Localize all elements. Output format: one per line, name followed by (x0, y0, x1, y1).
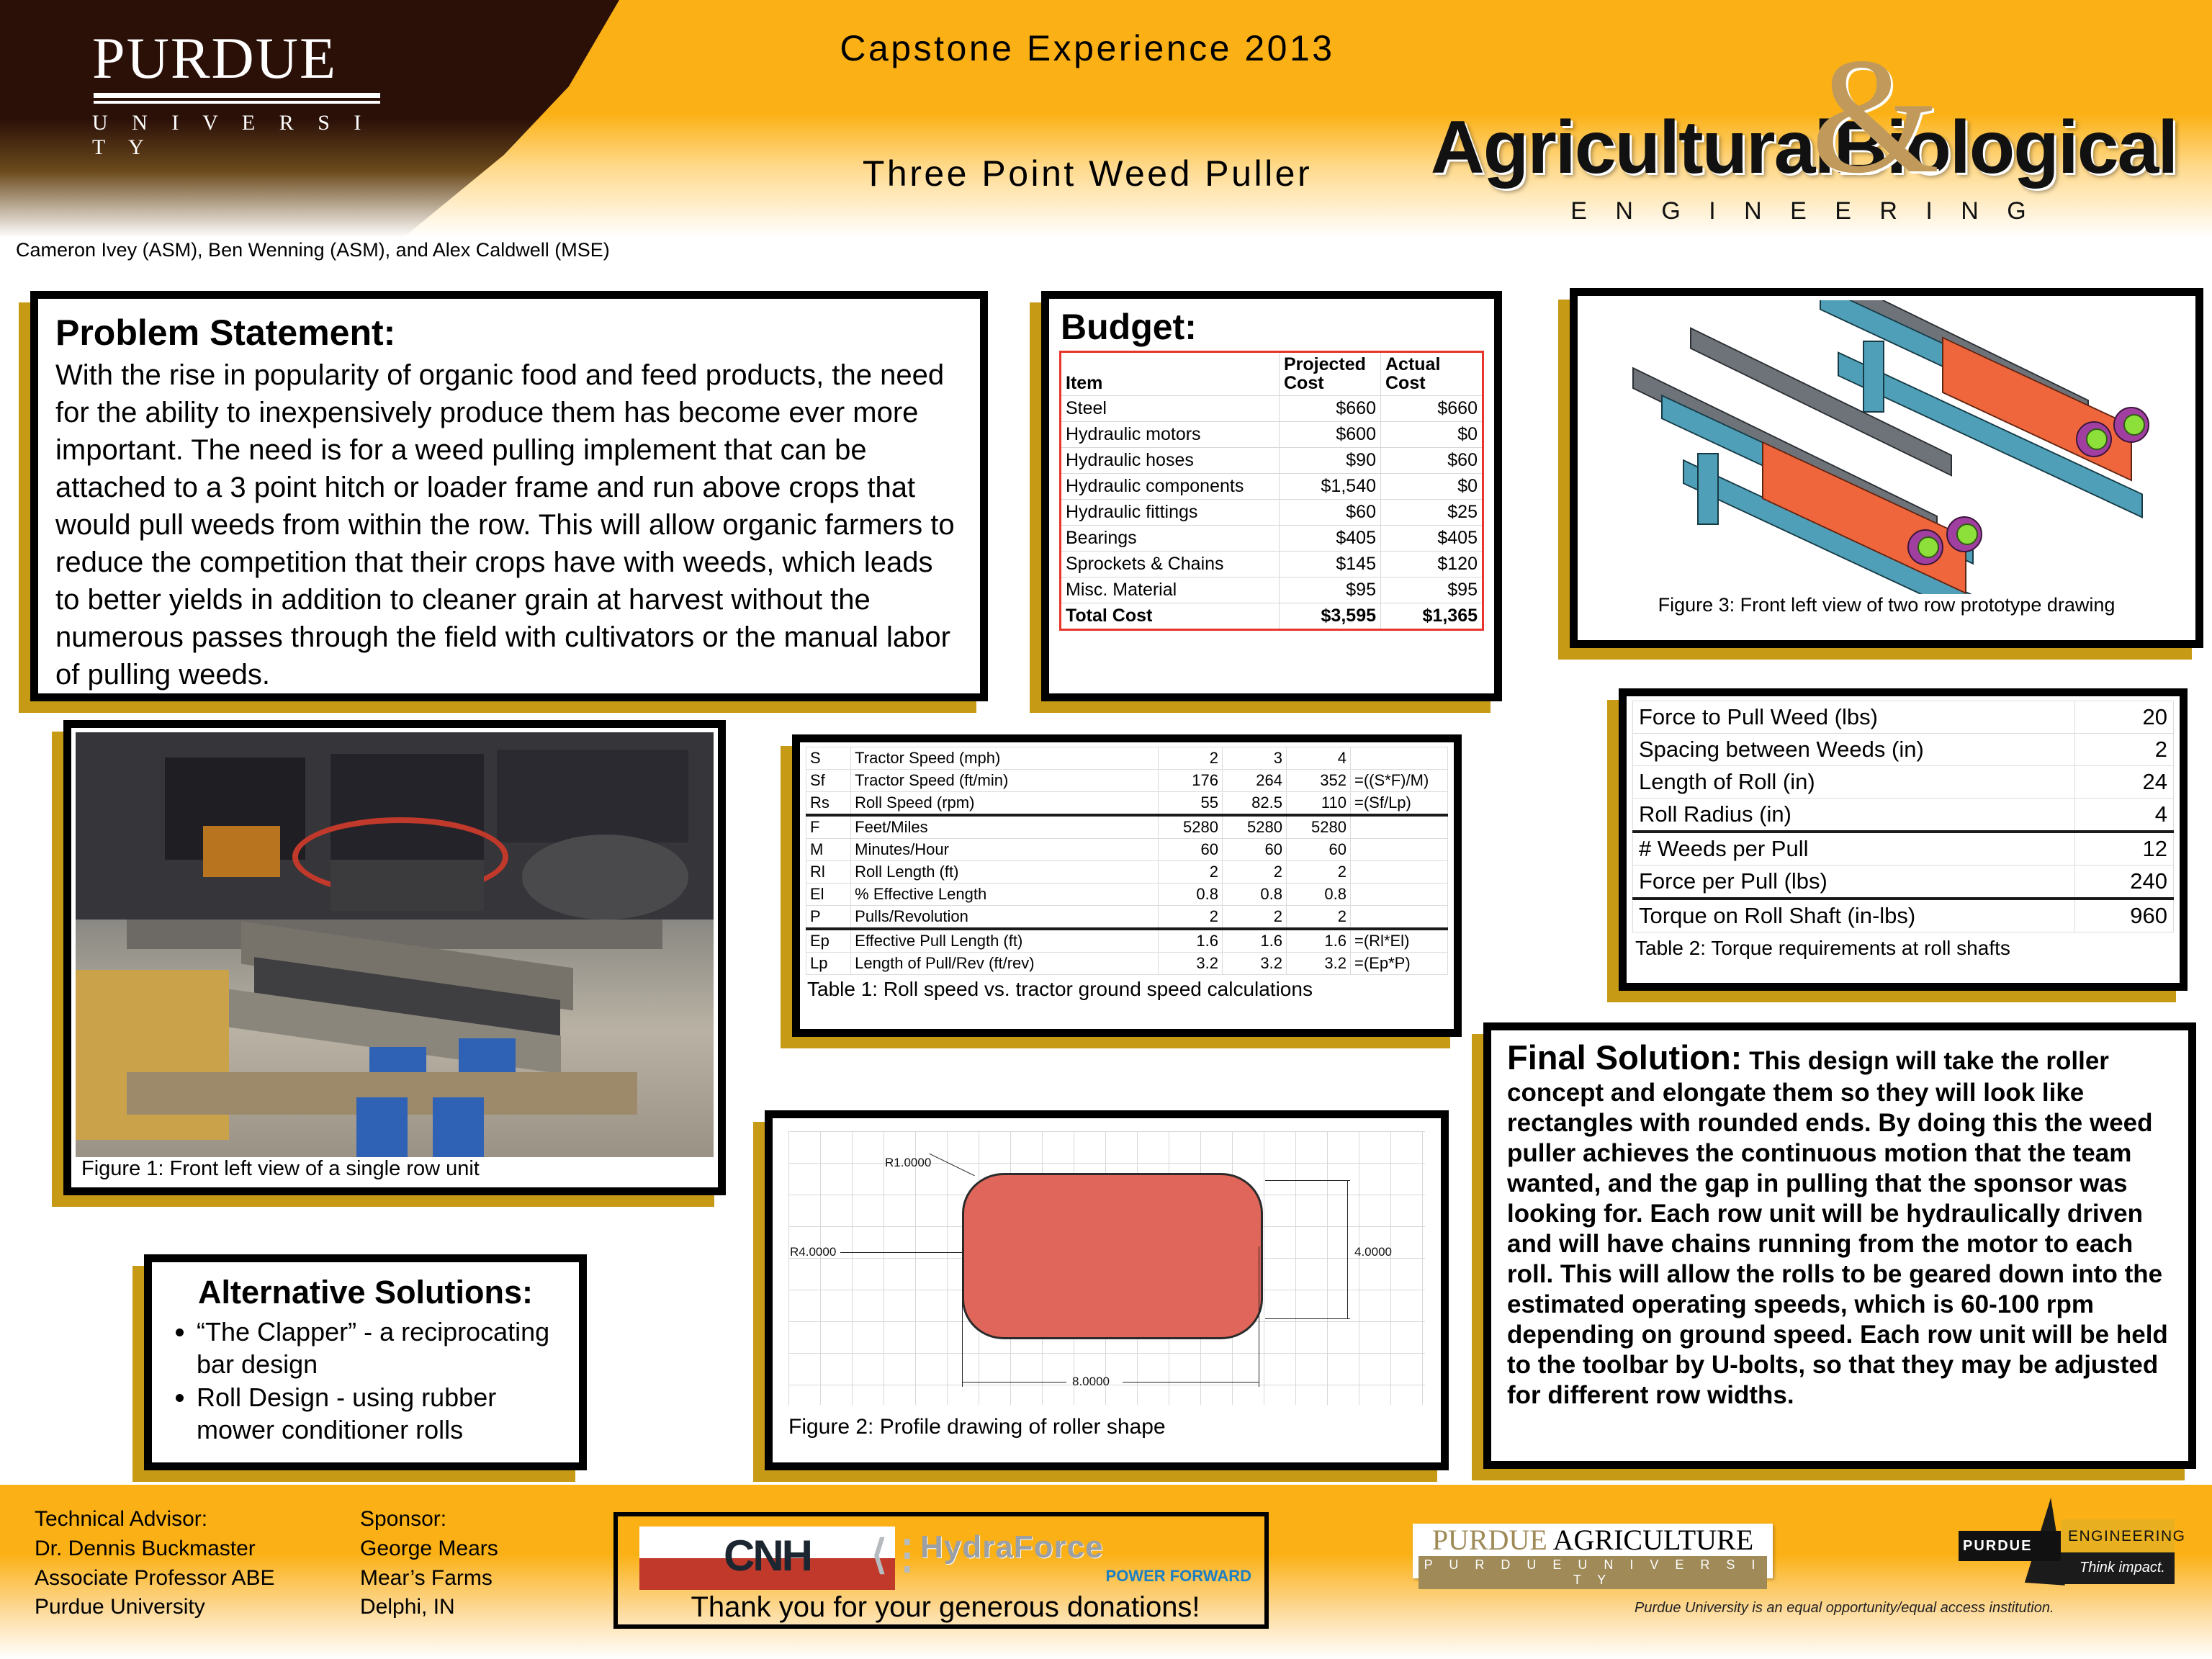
advisor-name: Dr. Dennis Buckmaster (35, 1534, 275, 1564)
sponsor-location: Delphi, IN (360, 1593, 498, 1622)
dim-corner-radius-label: R1.0000 (885, 1156, 931, 1170)
t2-value: 12 (2075, 832, 2174, 866)
sponsor-name: George Mears (360, 1534, 498, 1564)
t1-formula (1351, 884, 1448, 906)
final-solution-body: Final Solution: This design will take th… (1507, 1038, 2172, 1411)
t1-value-2: 60 (1223, 839, 1287, 861)
t1-formula (1351, 815, 1448, 839)
table-row: Hydraulic motors$600$0 (1061, 421, 1483, 447)
dim-width-label: 8.0000 (1072, 1375, 1110, 1389)
t1-symbol: S (806, 747, 851, 770)
table-row: LpLength of Pull/Rev (ft/rev)3.23.23.2=(… (806, 953, 1448, 975)
hydraforce-mark-icon: ⟨⋮ (871, 1531, 927, 1578)
t1-value-3: 0.8 (1287, 884, 1351, 906)
table2-caption: Table 2: Torque requirements at roll sha… (1632, 932, 2174, 960)
table-row: RsRoll Speed (rpm)5582.5110=(Sf/Lp) (806, 792, 1448, 816)
t1-formula: =((S*F)/M) (1351, 770, 1448, 792)
t1-formula (1351, 839, 1448, 861)
t2-value: 960 (2075, 899, 2174, 932)
t1-formula: =(Sf/Lp) (1351, 792, 1448, 816)
budget-item: Hydraulic motors (1061, 421, 1280, 447)
budget-projected: $90 (1280, 447, 1381, 473)
t1-description: Roll Length (ft) (851, 861, 1159, 884)
purdue-university-subtext: U N I V E R S I T Y (92, 111, 395, 160)
table-row: Bearings$405$405 (1061, 525, 1483, 551)
budget-col-projected-line1: Projected (1284, 355, 1376, 374)
logo-rule-thin (94, 101, 380, 104)
t1-symbol: M (806, 839, 851, 861)
problem-statement-panel: Problem Statement: With the rise in popu… (30, 291, 988, 701)
t1-formula: =(Ep*P) (1351, 953, 1448, 975)
hydraforce-wordmark: HydraForce (920, 1529, 1251, 1565)
budget-col-actual-line1: Actual (1385, 355, 1478, 374)
t1-value-2: 3 (1223, 747, 1287, 770)
list-item: “The Clapper” - a reciprocating bar desi… (197, 1316, 566, 1381)
t1-description: Effective Pull Length (ft) (851, 929, 1159, 953)
purdue-engineering-logo: PURDUE ENGINEERING Think impact. (1959, 1506, 2175, 1586)
t1-formula: =(Rl*El) (1351, 929, 1448, 953)
purdue-agriculture-wordmark: PURDUE AGRICULTURE (1413, 1524, 1773, 1555)
t1-formula (1351, 861, 1448, 884)
t1-description: Tractor Speed (ft/min) (851, 770, 1159, 792)
poster-header: PURDUE U N I V E R S I T Y Capstone Expe… (0, 0, 2212, 238)
advisor-rank: Associate Professor ABE (35, 1564, 275, 1593)
budget-heading: Budget: (1061, 306, 1484, 348)
t1-description: Tractor Speed (mph) (851, 747, 1159, 770)
figure2-caption: Figure 2: Profile drawing of roller shap… (778, 1411, 1435, 1439)
advisor-institution: Purdue University (35, 1593, 275, 1622)
budget-item: Misc. Material (1061, 577, 1280, 603)
budget-total-projected: $3,595 (1280, 603, 1381, 629)
t1-value-1: 55 (1159, 792, 1223, 816)
budget-panel: Budget: Item Projected Cost Actual Cost … (1041, 291, 1502, 701)
t1-symbol: Rl (806, 861, 851, 884)
t1-symbol: P (806, 906, 851, 930)
ampersand-glyph: & (1811, 33, 1940, 199)
t1-description: Length of Pull/Rev (ft/rev) (851, 953, 1159, 975)
t1-value-1: 3.2 (1159, 953, 1223, 975)
budget-actual: $660 (1381, 395, 1483, 421)
t1-symbol: F (806, 815, 851, 839)
table-row: STractor Speed (mph)234 (806, 747, 1448, 770)
table-row: Spacing between Weeds (in)2 (1633, 734, 2174, 766)
t2-value: 2 (2075, 734, 2174, 766)
t1-value-3: 110 (1287, 792, 1351, 816)
t1-value-1: 176 (1159, 770, 1223, 792)
table-row: Length of Roll (in)24 (1633, 766, 2174, 799)
budget-projected: $1,540 (1280, 473, 1381, 499)
budget-col-actual-line2: Cost (1385, 374, 1478, 392)
budget-col-projected: Projected Cost (1280, 352, 1381, 396)
table-row: # Weeds per Pull12 (1633, 832, 2174, 866)
budget-col-projected-line2: Cost (1284, 374, 1376, 392)
t1-description: Roll Speed (rpm) (851, 792, 1159, 816)
t1-description: Feet/Miles (851, 815, 1159, 839)
budget-item: Hydraulic hoses (1061, 447, 1280, 473)
abe-department-logo: AgriculturalBiological & E N G I N E E R… (1408, 13, 2200, 229)
t1-value-2: 82.5 (1223, 792, 1287, 816)
budget-total-label: Total Cost (1061, 603, 1280, 629)
t1-value-3: 4 (1287, 747, 1351, 770)
pag-agriculture-word: AGRICULTURE (1547, 1524, 1753, 1556)
table-row: Hydraulic fittings$60$25 (1061, 499, 1483, 525)
table-row: Hydraulic components$1,540$0 (1061, 473, 1483, 499)
purdue-agriculture-subtext: P U R D U E U N I V E R S I T Y (1419, 1556, 1767, 1589)
roller-profile-shape (962, 1173, 1263, 1339)
t1-value-2: 1.6 (1223, 929, 1287, 953)
table1-panel: STractor Speed (mph)234SfTractor Speed (… (792, 734, 1462, 1037)
abe-engineering-subtext: E N G I N E E R I N G (1408, 197, 2200, 225)
figure3-caption: Figure 3: Front left view of two row pro… (1582, 594, 2191, 616)
figure1-caption: Figure 1: Front left view of a single ro… (76, 1157, 714, 1181)
t1-value-1: 1.6 (1159, 929, 1223, 953)
t1-value-2: 264 (1223, 770, 1287, 792)
t1-value-3: 2 (1287, 861, 1351, 884)
hydraforce-tagline: POWER FORWARD (920, 1567, 1251, 1586)
t2-value: 24 (2075, 766, 2174, 799)
table-row: FFeet/Miles528052805280 (806, 815, 1448, 839)
final-solution-panel: Final Solution: This design will take th… (1483, 1022, 2196, 1469)
budget-projected: $405 (1280, 525, 1381, 551)
budget-projected: $600 (1280, 421, 1381, 447)
table2-body: Force to Pull Weed (lbs)20Spacing betwee… (1633, 701, 2174, 932)
dim-height-label: 4.0000 (1354, 1245, 1392, 1259)
table-row: SfTractor Speed (ft/min)176264352=((S*F)… (806, 770, 1448, 792)
budget-actual: $120 (1381, 551, 1483, 577)
t1-value-3: 5280 (1287, 815, 1351, 839)
list-item: Roll Design - using rubber mower conditi… (197, 1381, 566, 1447)
t1-symbol: El (806, 884, 851, 906)
t1-value-1: 0.8 (1159, 884, 1223, 906)
table-row: PPulls/Revolution222 (806, 906, 1448, 930)
budget-projected: $145 (1280, 551, 1381, 577)
event-title: Capstone Experience 2013 (742, 27, 1433, 69)
table1-body: STractor Speed (mph)234SfTractor Speed (… (806, 747, 1448, 975)
budget-item: Bearings (1061, 525, 1280, 551)
table-row: MMinutes/Hour606060 (806, 839, 1448, 861)
alternative-solutions-list: “The Clapper” - a reciprocating bar desi… (165, 1316, 566, 1446)
budget-projected: $60 (1280, 499, 1381, 525)
budget-actual: $25 (1381, 499, 1483, 525)
table-row: Sprockets & Chains$145$120 (1061, 551, 1483, 577)
table-row: Roll Radius (in)4 (1633, 799, 2174, 832)
figure3-panel: Figure 3: Front left view of two row pro… (1570, 288, 2203, 648)
budget-col-item: Item (1061, 352, 1280, 396)
table1-caption: Table 1: Roll speed vs. tractor ground s… (806, 975, 1448, 1001)
t1-value-1: 2 (1159, 747, 1223, 770)
budget-actual: $0 (1381, 473, 1483, 499)
t1-symbol: Lp (806, 953, 851, 975)
t2-label: Torque on Roll Shaft (in-lbs) (1633, 899, 2075, 932)
figure2-panel: R1.0000 R4.0000 4.0000 8.0000 Figure 2: … (765, 1110, 1449, 1470)
sponsor-company: Mear’s Farms (360, 1564, 498, 1593)
final-solution-heading: Final Solution: (1507, 1038, 1742, 1076)
advisor-label: Technical Advisor: (35, 1505, 275, 1534)
t1-symbol: Rs (806, 792, 851, 816)
budget-col-actual: Actual Cost (1381, 352, 1483, 396)
budget-item: Sprockets & Chains (1061, 551, 1280, 577)
t1-value-3: 1.6 (1287, 929, 1351, 953)
t1-formula (1351, 747, 1448, 770)
sponsor-block: Sponsor: George Mears Mear’s Farms Delph… (360, 1505, 498, 1622)
cnh-wordmark: CNH (639, 1531, 895, 1581)
t1-description: Pulls/Revolution (851, 906, 1159, 930)
alternative-solutions-heading: Alternative Solutions: (165, 1274, 566, 1311)
purdue-wordmark: PURDUE (92, 30, 395, 86)
budget-item: Steel (1061, 395, 1280, 421)
t1-value-3: 2 (1287, 906, 1351, 930)
t2-label: Length of Roll (in) (1633, 766, 2075, 799)
budget-total-actual: $1,365 (1381, 603, 1483, 629)
t1-formula (1351, 906, 1448, 930)
budget-table-body: Steel$660$660Hydraulic motors$600$0Hydra… (1061, 395, 1483, 629)
table-row: El% Effective Length0.80.80.8 (806, 884, 1448, 906)
t2-value: 20 (2075, 701, 2174, 734)
budget-actual: $405 (1381, 525, 1483, 551)
t1-value-1: 5280 (1159, 815, 1223, 839)
table-row: Force to Pull Weed (lbs)20 (1633, 701, 2174, 734)
figure1-photo (76, 732, 714, 1157)
t1-description: Minutes/Hour (851, 839, 1159, 861)
t1-value-1: 2 (1159, 906, 1223, 930)
budget-actual: $60 (1381, 447, 1483, 473)
t1-value-2: 2 (1223, 906, 1287, 930)
table2-panel: Force to Pull Weed (lbs)20Spacing betwee… (1619, 688, 2188, 991)
budget-actual: $0 (1381, 421, 1483, 447)
t1-value-1: 2 (1159, 861, 1223, 884)
t2-label: # Weeds per Pull (1633, 832, 2075, 866)
peng-engineering-word: ENGINEERING (2068, 1528, 2186, 1545)
peng-tagline: Think impact. (2080, 1560, 2165, 1576)
equal-opportunity-statement: Purdue University is an equal opportunit… (1635, 1600, 2054, 1617)
t1-description: % Effective Length (851, 884, 1159, 906)
hydraforce-logo: ⟨⋮ HydraForce POWER FORWARD (920, 1529, 1251, 1586)
table-row: Misc. Material$95$95 (1061, 577, 1483, 603)
purdue-university-logo: PURDUE U N I V E R S I T Y (92, 30, 395, 160)
author-list: Cameron Ivey (ASM), Ben Wenning (ASM), a… (16, 239, 610, 261)
page-title: Three Point Weed Puller (742, 153, 1433, 194)
abe-department-wordmark: AgriculturalBiological (1408, 105, 2200, 191)
table-header-row: Item Projected Cost Actual Cost (1061, 352, 1483, 396)
figure3-cad-drawing (1582, 300, 2191, 594)
budget-table: Item Projected Cost Actual Cost Steel$66… (1059, 351, 1484, 631)
t2-value: 4 (2075, 799, 2174, 832)
problem-statement-heading: Problem Statement: (55, 312, 963, 354)
t1-value-2: 0.8 (1223, 884, 1287, 906)
table-row: Steel$660$660 (1061, 395, 1483, 421)
budget-item: Hydraulic components (1061, 473, 1280, 499)
t1-value-1: 60 (1159, 839, 1223, 861)
t1-value-3: 3.2 (1287, 953, 1351, 975)
t2-value: 240 (2075, 866, 2174, 899)
figure1-panel: Figure 1: Front left view of a single ro… (63, 720, 726, 1195)
table-row: Hydraulic hoses$90$60 (1061, 447, 1483, 473)
logo-rule-thick (94, 93, 380, 98)
thank-you-message: Thank you for your generous donations! (618, 1591, 1273, 1624)
t2-label: Roll Radius (in) (1633, 799, 2075, 832)
t1-value-2: 3.2 (1223, 953, 1287, 975)
t2-label: Force to Pull Weed (lbs) (1633, 701, 2075, 734)
abe-word-agricultural: Agricultural (1431, 106, 1834, 189)
pag-purdue-word: PURDUE (1432, 1524, 1547, 1556)
t2-label: Spacing between Weeds (in) (1633, 734, 2075, 766)
budget-projected: $660 (1280, 395, 1381, 421)
final-solution-text: This design will take the roller concept… (1507, 1047, 2168, 1409)
problem-statement-body: With the rise in popularity of organic f… (55, 356, 963, 693)
alternative-solutions-panel: Alternative Solutions: “The Clapper” - a… (144, 1254, 587, 1470)
purdue-agriculture-logo: PURDUE AGRICULTURE P U R D U E U N I V E… (1413, 1524, 1773, 1578)
budget-item: Hydraulic fittings (1061, 499, 1280, 525)
figure2-profile-drawing: R1.0000 R4.0000 4.0000 8.0000 (778, 1124, 1435, 1411)
t1-symbol: Ep (806, 929, 851, 953)
sponsor-label: Sponsor: (360, 1505, 498, 1534)
table1: STractor Speed (mph)234SfTractor Speed (… (806, 747, 1448, 975)
budget-projected: $95 (1280, 577, 1381, 603)
table2: Force to Pull Weed (lbs)20Spacing betwee… (1632, 701, 2174, 932)
t1-value-3: 60 (1287, 839, 1351, 861)
technical-advisor-block: Technical Advisor: Dr. Dennis Buckmaster… (35, 1505, 275, 1622)
table-row: Force per Pull (lbs)240 (1633, 866, 2174, 899)
table-row: Torque on Roll Shaft (in-lbs)960 (1633, 899, 2174, 932)
t1-value-2: 5280 (1223, 815, 1287, 839)
donor-acknowledgement-box: CNH ⟨⋮ HydraForce POWER FORWARD Thank yo… (613, 1512, 1269, 1629)
dim-end-radius-label: R4.0000 (790, 1245, 836, 1259)
budget-total-row: Total Cost$3,595$1,365 (1061, 603, 1483, 629)
budget-actual: $95 (1381, 577, 1483, 603)
t1-value-2: 2 (1223, 861, 1287, 884)
t1-symbol: Sf (806, 770, 851, 792)
cnh-logo: CNH (639, 1527, 895, 1590)
t1-value-3: 352 (1287, 770, 1351, 792)
t2-label: Force per Pull (lbs) (1633, 866, 2075, 899)
table-row: RlRoll Length (ft)222 (806, 861, 1448, 884)
table-row: EpEffective Pull Length (ft)1.61.61.6=(R… (806, 929, 1448, 953)
peng-purdue-word: PURDUE (1963, 1538, 2032, 1555)
